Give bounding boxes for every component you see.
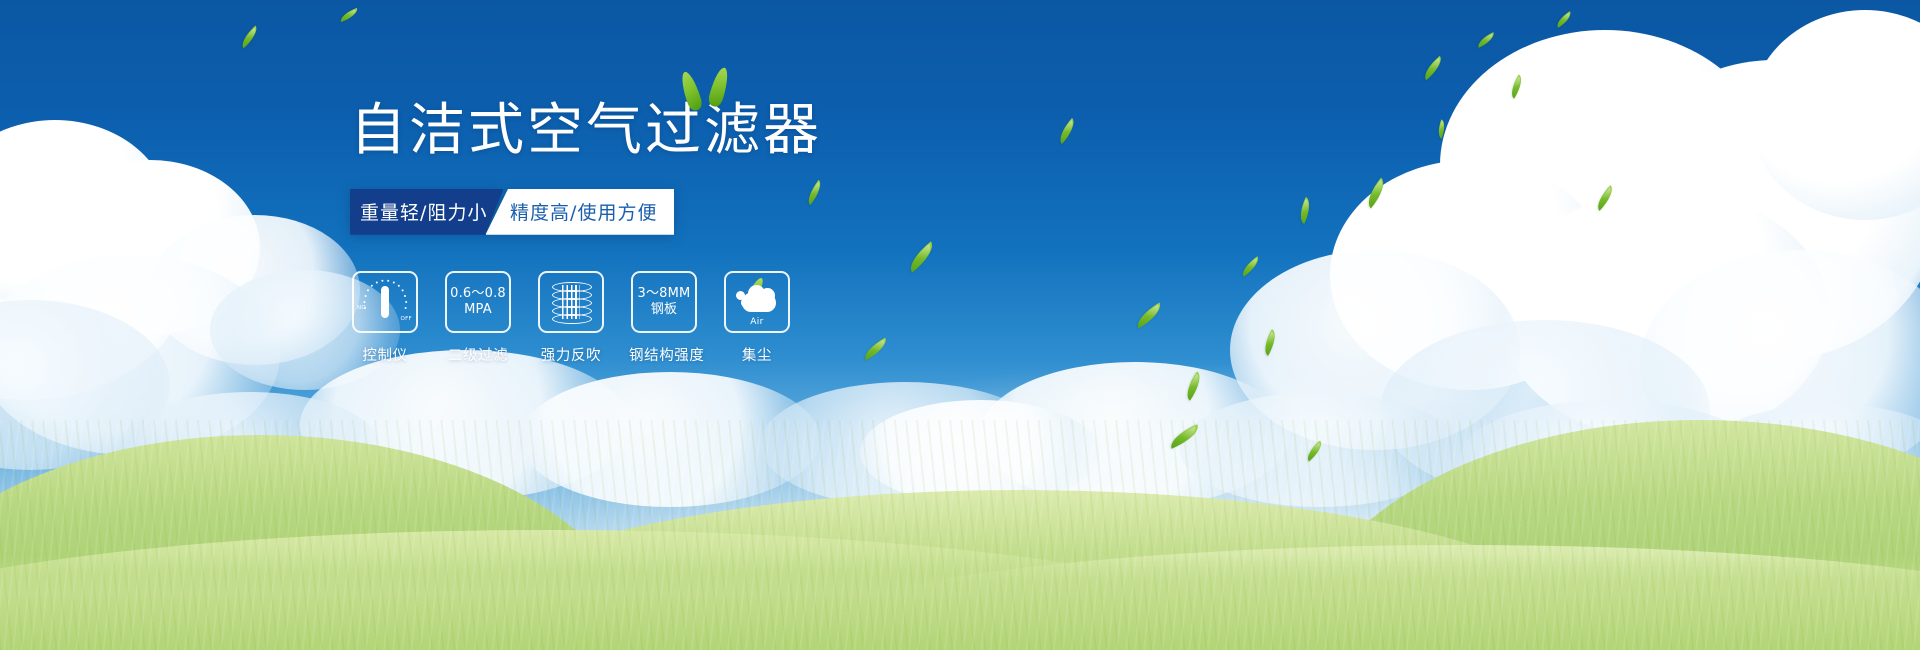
- feature-label: 钢结构强度: [629, 344, 699, 365]
- gauge-dial-icon: NO OFF: [358, 278, 412, 326]
- hero-banner: 自洁式空气过滤器 重量轻/阻力小 精度高/使用方便: [0, 0, 1920, 650]
- feature-label: 集尘: [722, 344, 792, 365]
- tab-label: 重量轻/阻力小: [360, 198, 487, 225]
- feature-icon-row: NO OFF 控制仪 0.6～0.8 MPA 二级过滤: [350, 271, 1070, 365]
- feature-icon-box: NO OFF: [352, 271, 418, 333]
- steel-material: 钢板: [638, 302, 691, 317]
- leaf-icon: [678, 70, 704, 112]
- feature-item-backblow[interactable]: 强力反吹: [536, 271, 606, 365]
- gauge-off-label: OFF: [400, 316, 412, 322]
- feature-icon-box: Air: [724, 271, 790, 333]
- feature-label: 二级过滤: [443, 344, 513, 365]
- feature-icon-box: 0.6～0.8 MPA: [445, 271, 511, 333]
- feature-item-dust[interactable]: Air 集尘: [722, 271, 792, 365]
- pressure-unit: MPA: [450, 302, 506, 317]
- tab-weight-resistance[interactable]: 重量轻/阻力小: [350, 189, 504, 235]
- feature-label: 强力反吹: [536, 344, 606, 365]
- feature-icon-box: [538, 271, 604, 333]
- tab-label: 精度高/使用方便: [510, 198, 657, 225]
- steel-thickness: 3～8MM: [638, 286, 691, 301]
- gauge-on-label: NO: [357, 305, 366, 311]
- pressure-range: 0.6～0.8: [450, 286, 506, 301]
- leaf-icon: [707, 66, 731, 108]
- feature-tabs: 重量轻/阻力小 精度高/使用方便: [350, 189, 674, 235]
- tab-precision-convenience[interactable]: 精度高/使用方便: [486, 189, 675, 235]
- feature-item-controller[interactable]: NO OFF 控制仪: [350, 271, 420, 365]
- feature-item-pressure[interactable]: 0.6～0.8 MPA 二级过滤: [443, 271, 513, 365]
- cloud-air-icon: Air: [730, 278, 784, 326]
- feature-icon-box: 3～8MM 钢板: [631, 271, 697, 333]
- feature-item-steel[interactable]: 3～8MM 钢板 钢结构强度: [629, 271, 699, 365]
- steel-plate-text-icon: 3～8MM 钢板: [638, 286, 691, 317]
- banner-content: 自洁式空气过滤器 重量轻/阻力小 精度高/使用方便: [350, 100, 1070, 365]
- title-block: 自洁式空气过滤器: [350, 100, 1070, 163]
- air-label: Air: [730, 317, 784, 327]
- feature-label: 控制仪: [350, 344, 420, 365]
- filter-coil-icon: [549, 279, 593, 325]
- title-leaf-pair: [680, 65, 750, 115]
- pressure-text-icon: 0.6～0.8 MPA: [450, 286, 506, 317]
